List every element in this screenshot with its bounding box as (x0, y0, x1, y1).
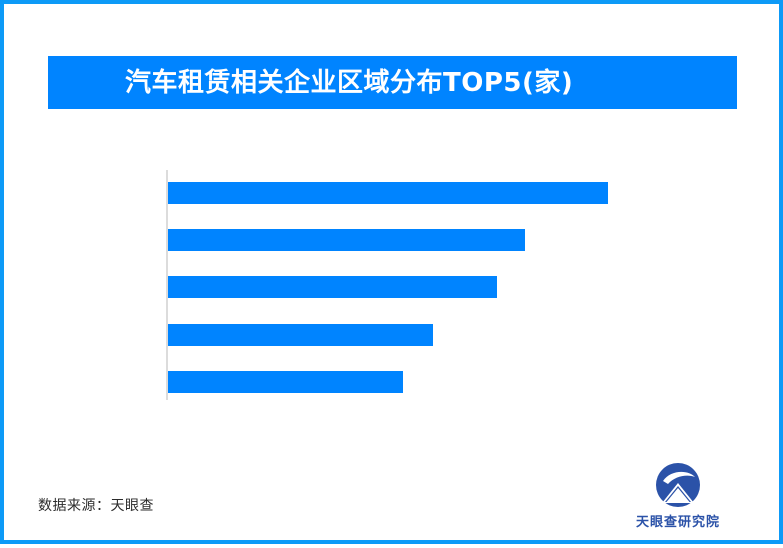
data-source-label: 数据来源：天眼查 (38, 495, 154, 515)
bar-rect[interactable] (168, 276, 497, 298)
bar-rect[interactable] (168, 182, 608, 204)
logo-text: 天眼查研究院 (623, 511, 733, 530)
bar-rect[interactable] (168, 371, 403, 393)
bar-rect[interactable] (168, 324, 433, 346)
logo: 天眼查研究院 (623, 462, 733, 530)
page-title: 汽车租赁相关企业区域分布TOP5(家) (48, 70, 573, 96)
bar-rect[interactable] (168, 229, 525, 251)
infographic-canvas: 汽车租赁相关企业区域分布TOP5(家) 广东省 山东省 江苏省 辽宁省 河北省 … (0, 0, 783, 544)
eye-mountain-circle-icon (655, 462, 701, 508)
title-banner: 汽车租赁相关企业区域分布TOP5(家) (48, 56, 737, 109)
